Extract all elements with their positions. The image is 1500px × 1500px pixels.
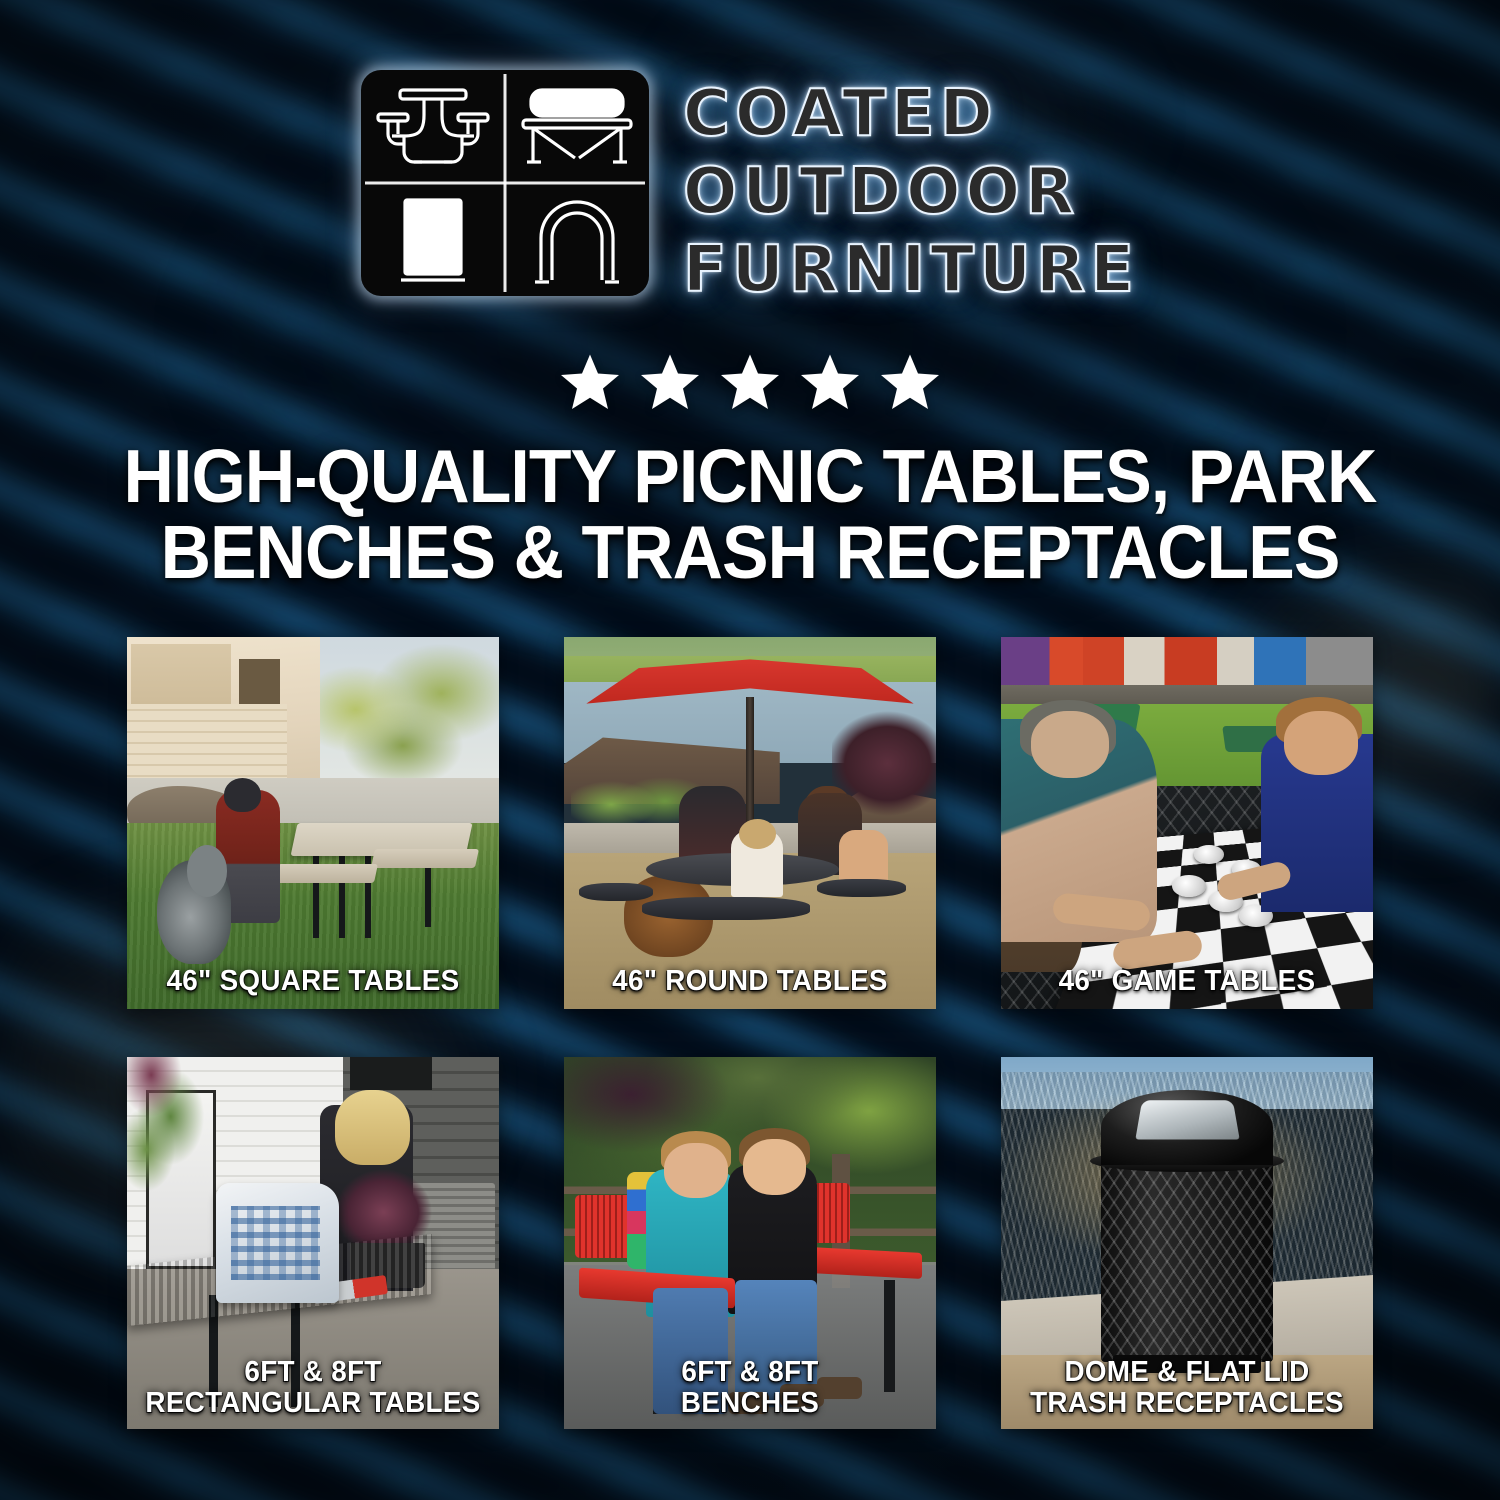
brand-name-line-1: COATED xyxy=(683,76,1139,152)
product-caption: 46" SQUARE TABLES xyxy=(134,966,491,997)
product-photo-square-tables xyxy=(127,637,499,1009)
product-grid: 46" SQUARE TABLES xyxy=(127,637,1377,1429)
product-caption: 6FT & 8FT RECTANGULAR TABLES xyxy=(134,1357,491,1419)
star-rating xyxy=(0,352,1500,412)
brand-logo: COATED OUTDOOR FURNITURE xyxy=(0,70,1500,308)
star-icon xyxy=(719,352,781,412)
four-quadrant-furniture-logo xyxy=(361,70,649,296)
headline-line-1: HIGH-QUALITY PICNIC TABLES, PARK xyxy=(124,434,1377,518)
bike-rack-arch-icon xyxy=(505,183,649,296)
product-caption: 6FT & 8FT BENCHES xyxy=(571,1357,928,1419)
product-tile-trash-receptacles[interactable]: DOME & FLAT LID TRASH RECEPTACLES xyxy=(1001,1057,1373,1429)
star-icon xyxy=(799,352,861,412)
trash-receptacle-icon xyxy=(361,183,505,296)
star-icon xyxy=(879,352,941,412)
product-photo-game-tables xyxy=(1001,637,1373,1009)
product-photo-round-tables xyxy=(564,637,936,1009)
star-icon xyxy=(559,352,621,412)
product-tile-benches[interactable]: 6FT & 8FT BENCHES xyxy=(564,1057,936,1429)
brand-name-line-3: FURNITURE xyxy=(683,232,1139,308)
product-tile-game-tables[interactable]: 46" GAME TABLES xyxy=(1001,637,1373,1009)
product-tile-square-tables[interactable]: 46" SQUARE TABLES xyxy=(127,637,499,1009)
product-tile-round-tables[interactable]: 46" ROUND TABLES xyxy=(564,637,936,1009)
brand-name-line-2: OUTDOOR xyxy=(683,154,1139,230)
star-icon xyxy=(639,352,701,412)
product-caption: 46" ROUND TABLES xyxy=(571,966,928,997)
headline-line-2: BENCHES & TRASH RECEPTACLES xyxy=(53,514,1448,590)
product-caption: 46" GAME TABLES xyxy=(1008,966,1365,997)
picnic-table-icon xyxy=(361,70,505,183)
product-caption: DOME & FLAT LID TRASH RECEPTACLES xyxy=(1008,1357,1365,1419)
bench-icon xyxy=(505,70,649,183)
product-tile-rectangular-tables[interactable]: 6FT & 8FT RECTANGULAR TABLES xyxy=(127,1057,499,1429)
page-title: HIGH-QUALITY PICNIC TABLES, PARK BENCHES… xyxy=(53,438,1448,590)
